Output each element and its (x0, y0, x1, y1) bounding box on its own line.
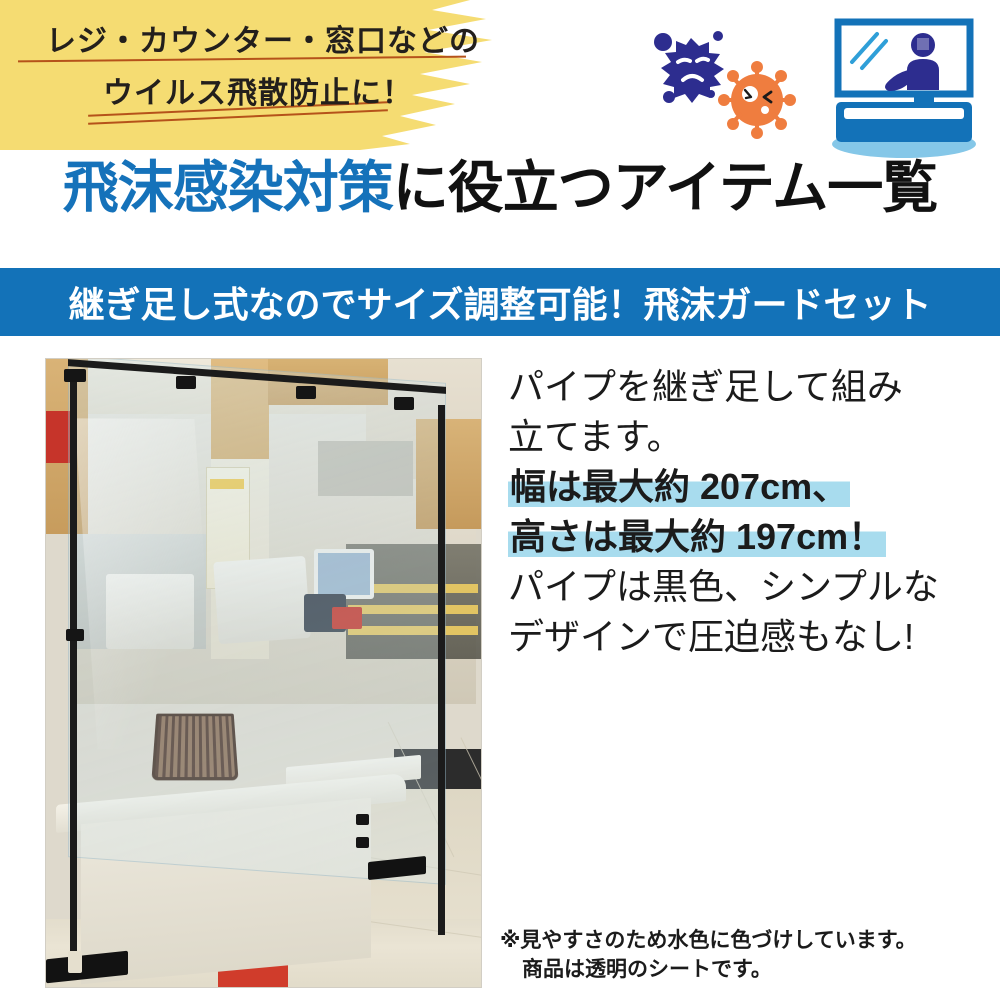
top-banner-line-2: ウイルス飛散防止に！ (103, 68, 413, 112)
photo-pipe-clamp-4 (394, 397, 414, 410)
top-banner: レジ・カウンター・窓口などの ウイルス飛散防止に！ (0, 0, 1000, 150)
counter-stripe (844, 108, 964, 119)
top-banner-copy: レジ・カウンター・窓口などの ウイルス飛散防止に！ (0, 0, 520, 112)
virus-orange-icon (718, 61, 796, 139)
description-line-5: パイプは黒色、シンプルな (508, 562, 978, 612)
virus-blue-icon (654, 31, 724, 103)
description-line-2: 立てます。 (508, 412, 978, 462)
description-line-4-text: 高さは最大約 197cm！ (508, 516, 886, 557)
photo-pipe-clamp-5 (66, 629, 84, 641)
description-block: パイプを継ぎ足して組み 立てます。 幅は最大約 207cm、 高さは最大約 19… (508, 362, 978, 662)
description-line-3: 幅は最大約 207cm、 (508, 462, 978, 512)
description-line-5-text: パイプは黒色、シンプルな (508, 566, 939, 607)
photo-red-sign-top (46, 411, 70, 463)
product-title-banner: 継ぎ足し式なのでサイズ調整可能！飛沫ガードセット (0, 268, 1000, 336)
photo-pipe-base-left-notch (68, 951, 82, 973)
photo-pipe-clamp-2 (176, 376, 196, 389)
description-line-6-text: デザインで圧迫感もなし! (508, 616, 914, 657)
main-headline-text: 飛沫感染対策に役立つアイテム一覧 (63, 160, 937, 216)
description-line-1: パイプを継ぎ足して組み (508, 362, 978, 412)
photo-pipe-clamp-1 (64, 369, 86, 382)
photo-pipe-clamp-3 (296, 386, 316, 399)
description-line-1-text: パイプを継ぎ足して組み (508, 366, 903, 407)
product-photo (45, 358, 482, 988)
photo-pipe-clamp-7 (356, 837, 369, 848)
headline-highlight: 飛沫感染対策 (63, 156, 393, 219)
footnote-line-2: 商品は透明のシートです。 (500, 955, 980, 984)
product-title-text: 継ぎ足し式なのでサイズ調整可能！飛沫ガードセット (69, 276, 932, 328)
photo-pipe-right (438, 405, 445, 935)
footnote-line-1: ※見やすさのため水色に色づけしています。 (500, 926, 980, 955)
photo-guard-sheet-shine (75, 418, 218, 749)
footnote-block: ※見やすさのため水色に色づけしています。 商品は透明のシートです。 (500, 926, 980, 984)
description-line-3-text: 幅は最大約 207cm、 (508, 466, 850, 507)
virus-icons-group (645, 20, 805, 145)
counter-shield-icon (822, 14, 987, 164)
description-line-4: 高さは最大約 197cm！ (508, 512, 978, 562)
main-headline: 飛沫感染対策に役立つアイテム一覧 (0, 148, 1000, 228)
description-line-2-text: 立てます。 (508, 416, 683, 457)
photo-pipe-left (70, 375, 77, 960)
headline-rest: に役立つアイテム一覧 (393, 156, 937, 219)
photo-pipe-clamp-6 (356, 814, 369, 825)
top-banner-line-1: レジ・カウンター・窓口などの (46, 16, 480, 60)
description-line-6: デザインで圧迫感もなし! (508, 612, 978, 662)
